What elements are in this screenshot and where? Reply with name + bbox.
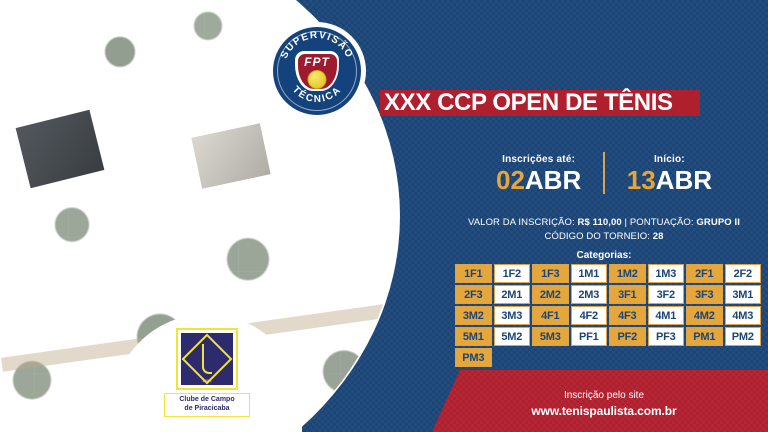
registration-day: 02 (496, 165, 525, 195)
category-chip[interactable]: 3F3 (686, 285, 723, 304)
start-label: Início: (627, 154, 712, 165)
category-chip[interactable]: 2M3 (571, 285, 608, 304)
categories-list: 1F11F21F31M11M21M32F12F22F32M12M22M33F13… (455, 264, 761, 367)
registration-deadline-block: Inscrições até: 02ABR (474, 154, 603, 193)
category-chip[interactable]: 1M3 (648, 264, 685, 283)
category-chip[interactable]: 3M1 (725, 285, 762, 304)
category-chip[interactable]: 4M3 (725, 306, 762, 325)
fpt-supervision-badge: SUPERVISÃO TÉCNICA FPT (268, 22, 366, 120)
category-chip[interactable]: 3F2 (648, 285, 685, 304)
club-name-line2: de Piracicaba (166, 405, 248, 414)
code-value: 28 (653, 231, 664, 242)
fee-label: VALOR DA INSCRIÇÃO: (468, 217, 575, 228)
category-chip[interactable]: 4F3 (609, 306, 646, 325)
code-label: CÓDIGO DO TORNEIO: (545, 231, 650, 242)
event-title-block: XXX CCP OPEN DE TÊNIS (380, 88, 720, 120)
category-chip[interactable]: PF1 (571, 327, 608, 346)
registration-month: ABR (525, 165, 581, 195)
category-chip[interactable]: 2F3 (455, 285, 492, 304)
club-name: Clube de Campo de Piracicaba (164, 393, 250, 417)
dates-row: Inscrições até: 02ABR Início: 13ABR (440, 152, 768, 194)
category-chip[interactable]: 1F2 (494, 264, 531, 283)
category-chip[interactable]: 1M1 (571, 264, 608, 283)
club-founded-year: 1954 (202, 378, 212, 383)
points-value: GRUPO II (696, 217, 740, 228)
category-chip[interactable]: 2F1 (686, 264, 723, 283)
page-title: XXX CCP OPEN DE TÊNIS (384, 88, 716, 118)
category-chip[interactable]: 5M3 (532, 327, 569, 346)
category-chip[interactable]: 2M1 (494, 285, 531, 304)
category-chip[interactable]: 3M2 (455, 306, 492, 325)
footer-website-link[interactable]: www.tenispaulista.com.br (440, 404, 768, 418)
start-date-block: Início: 13ABR (605, 154, 734, 193)
category-chip[interactable]: 5M1 (455, 327, 492, 346)
category-chip[interactable]: 4F1 (532, 306, 569, 325)
category-chip[interactable]: PF3 (648, 327, 685, 346)
start-day: 13 (627, 165, 656, 195)
category-chip[interactable]: 3M3 (494, 306, 531, 325)
category-chip[interactable]: PM2 (725, 327, 762, 346)
category-chip[interactable]: 2M2 (532, 285, 569, 304)
tournament-code-line: CÓDIGO DO TORNEIO: 28 (440, 230, 768, 244)
category-chip[interactable]: 1F1 (455, 264, 492, 283)
category-chip[interactable]: PM1 (686, 327, 723, 346)
tournament-info: VALOR DA INSCRIÇÃO: R$ 110,00 | PONTUAÇÃ… (440, 216, 768, 245)
category-chip[interactable]: 5M2 (494, 327, 531, 346)
registration-label: Inscrições até: (496, 154, 581, 165)
category-chip[interactable]: 4M1 (648, 306, 685, 325)
club-logo: 1954 Clube de Campo de Piracicaba (164, 328, 250, 417)
category-chip[interactable]: 4M2 (686, 306, 723, 325)
category-chip[interactable]: 2F2 (725, 264, 762, 283)
fpt-acronym: FPT (304, 55, 330, 69)
category-chip[interactable]: 3F1 (609, 285, 646, 304)
footer-text: Inscrição pelo site www.tenispaulista.co… (440, 390, 768, 418)
tennis-ball-icon (308, 70, 327, 89)
tournament-poster: 1954 Clube de Campo de Piracicaba SUPERV… (0, 0, 768, 432)
club-emblem-icon: 1954 (176, 328, 238, 390)
footer-subscribe-text: Inscrição pelo site (440, 390, 768, 401)
info-separator: | (625, 217, 628, 228)
category-chip[interactable]: PF2 (609, 327, 646, 346)
category-chip[interactable]: 4F2 (571, 306, 608, 325)
category-chip[interactable]: PM3 (455, 348, 492, 367)
points-label: PONTUAÇÃO: (630, 217, 694, 228)
start-month: ABR (656, 165, 712, 195)
fee-value: R$ 110,00 (578, 217, 622, 228)
fee-and-points-line: VALOR DA INSCRIÇÃO: R$ 110,00 | PONTUAÇÃ… (440, 216, 768, 230)
categories-label: Categorias: (440, 250, 768, 261)
club-name-line1: Clube de Campo (166, 396, 248, 405)
category-chip[interactable]: 1M2 (609, 264, 646, 283)
fpt-shield-icon: FPT (295, 51, 339, 91)
category-chip[interactable]: 1F3 (532, 264, 569, 283)
